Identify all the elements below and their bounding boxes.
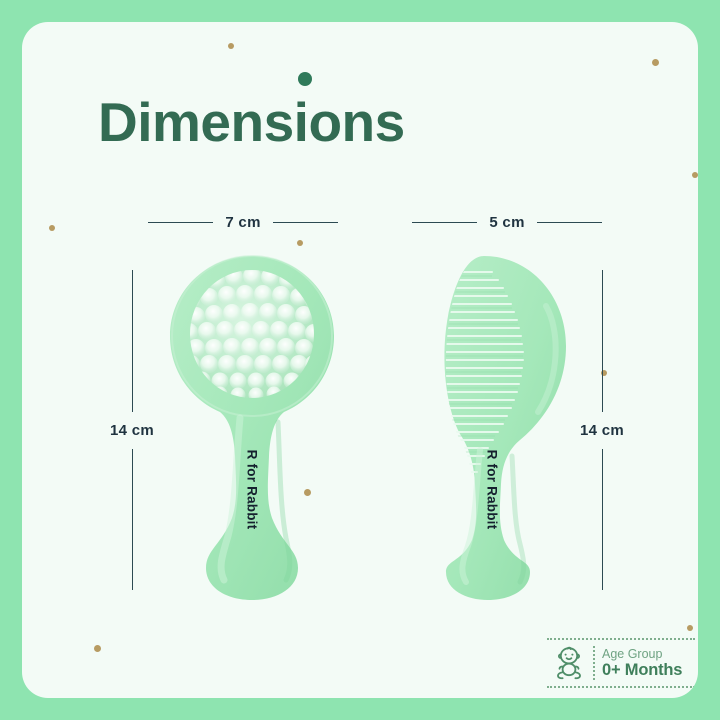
decorative-dot (49, 225, 55, 231)
dimension-rule-bottom (602, 449, 603, 591)
decorative-dot (297, 240, 303, 246)
page-title: Dimensions (98, 90, 405, 154)
brush-width-dimension: 7 cm (148, 212, 338, 232)
dimension-rule-top (132, 270, 133, 412)
comb-width-dimension: 5 cm (412, 212, 602, 232)
product-baby-comb: R for Rabbit (426, 250, 586, 602)
brush-width-label: 7 cm (225, 214, 260, 231)
decorative-dot (652, 59, 659, 66)
decorative-dot (94, 645, 101, 652)
comb-brand-text: R for Rabbit (484, 450, 499, 530)
dimension-rule-right (537, 222, 602, 223)
dimension-rule-bottom (132, 449, 133, 591)
decorative-dot (228, 43, 234, 49)
brush-illustration (162, 250, 342, 602)
comb-illustration (426, 250, 586, 602)
decorative-dot (692, 172, 698, 178)
badge-value: 0+ Months (602, 661, 682, 679)
age-group-badge: Age Group 0+ Months (547, 638, 695, 688)
dimension-rule-left (412, 222, 477, 223)
comb-width-label: 5 cm (489, 214, 524, 231)
decorative-dot (298, 72, 312, 86)
brush-height-label: 14 cm (110, 422, 154, 439)
brush-brand-text: R for Rabbit (244, 450, 259, 530)
dimension-rule-top (602, 270, 603, 412)
brush-height-dimension: 14 cm (100, 270, 164, 590)
dimension-rule-right (273, 222, 338, 223)
product-baby-hair-brush: R for Rabbit (162, 250, 342, 602)
comb-height-label: 14 cm (580, 422, 624, 439)
decorative-dot (687, 625, 693, 631)
badge-divider (593, 646, 595, 680)
dimension-rule-left (148, 222, 213, 223)
infographic-canvas: Dimensions 7 cm 5 cm 14 cm 14 cm (0, 0, 720, 720)
badge-text-group: Age Group 0+ Months (602, 647, 682, 679)
baby-icon (547, 645, 591, 681)
badge-caption: Age Group (602, 647, 682, 661)
content-panel: Dimensions 7 cm 5 cm 14 cm 14 cm (22, 22, 698, 698)
